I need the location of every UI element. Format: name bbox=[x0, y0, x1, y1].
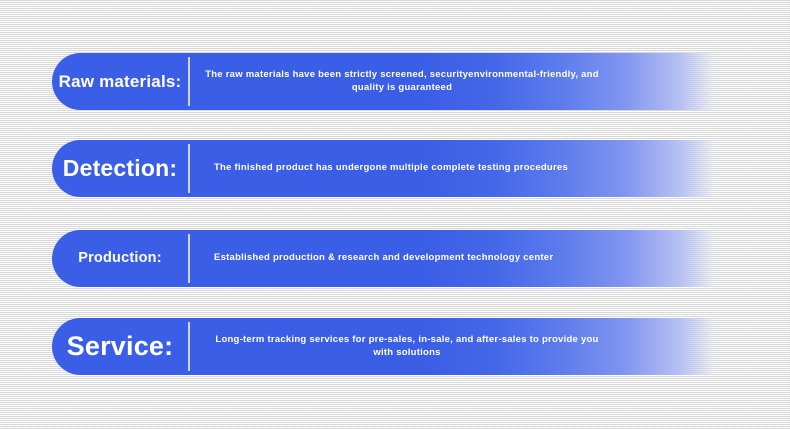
feature-row-raw-materials: Raw materials: The raw materials have be… bbox=[52, 53, 720, 110]
infographic-page: Raw materials: The raw materials have be… bbox=[0, 0, 790, 429]
row-label-production: Production: bbox=[52, 230, 188, 287]
row-label-raw-materials: Raw materials: bbox=[52, 53, 188, 110]
feature-row-detection: Detection: The finished product has unde… bbox=[52, 140, 720, 197]
feature-row-list: Raw materials: The raw materials have be… bbox=[0, 0, 790, 429]
feature-row-service: Service: Long-term tracking services for… bbox=[52, 318, 720, 375]
row-description-production: Established production & research and de… bbox=[190, 230, 720, 287]
feature-row-production: Production: Established production & res… bbox=[52, 230, 720, 287]
row-description-raw-materials: The raw materials have been strictly scr… bbox=[190, 53, 720, 110]
row-label-detection: Detection: bbox=[52, 140, 188, 197]
row-description-detection: The finished product has undergone multi… bbox=[190, 140, 720, 197]
row-description-service: Long-term tracking services for pre-sale… bbox=[190, 318, 720, 375]
row-label-service: Service: bbox=[52, 318, 188, 375]
